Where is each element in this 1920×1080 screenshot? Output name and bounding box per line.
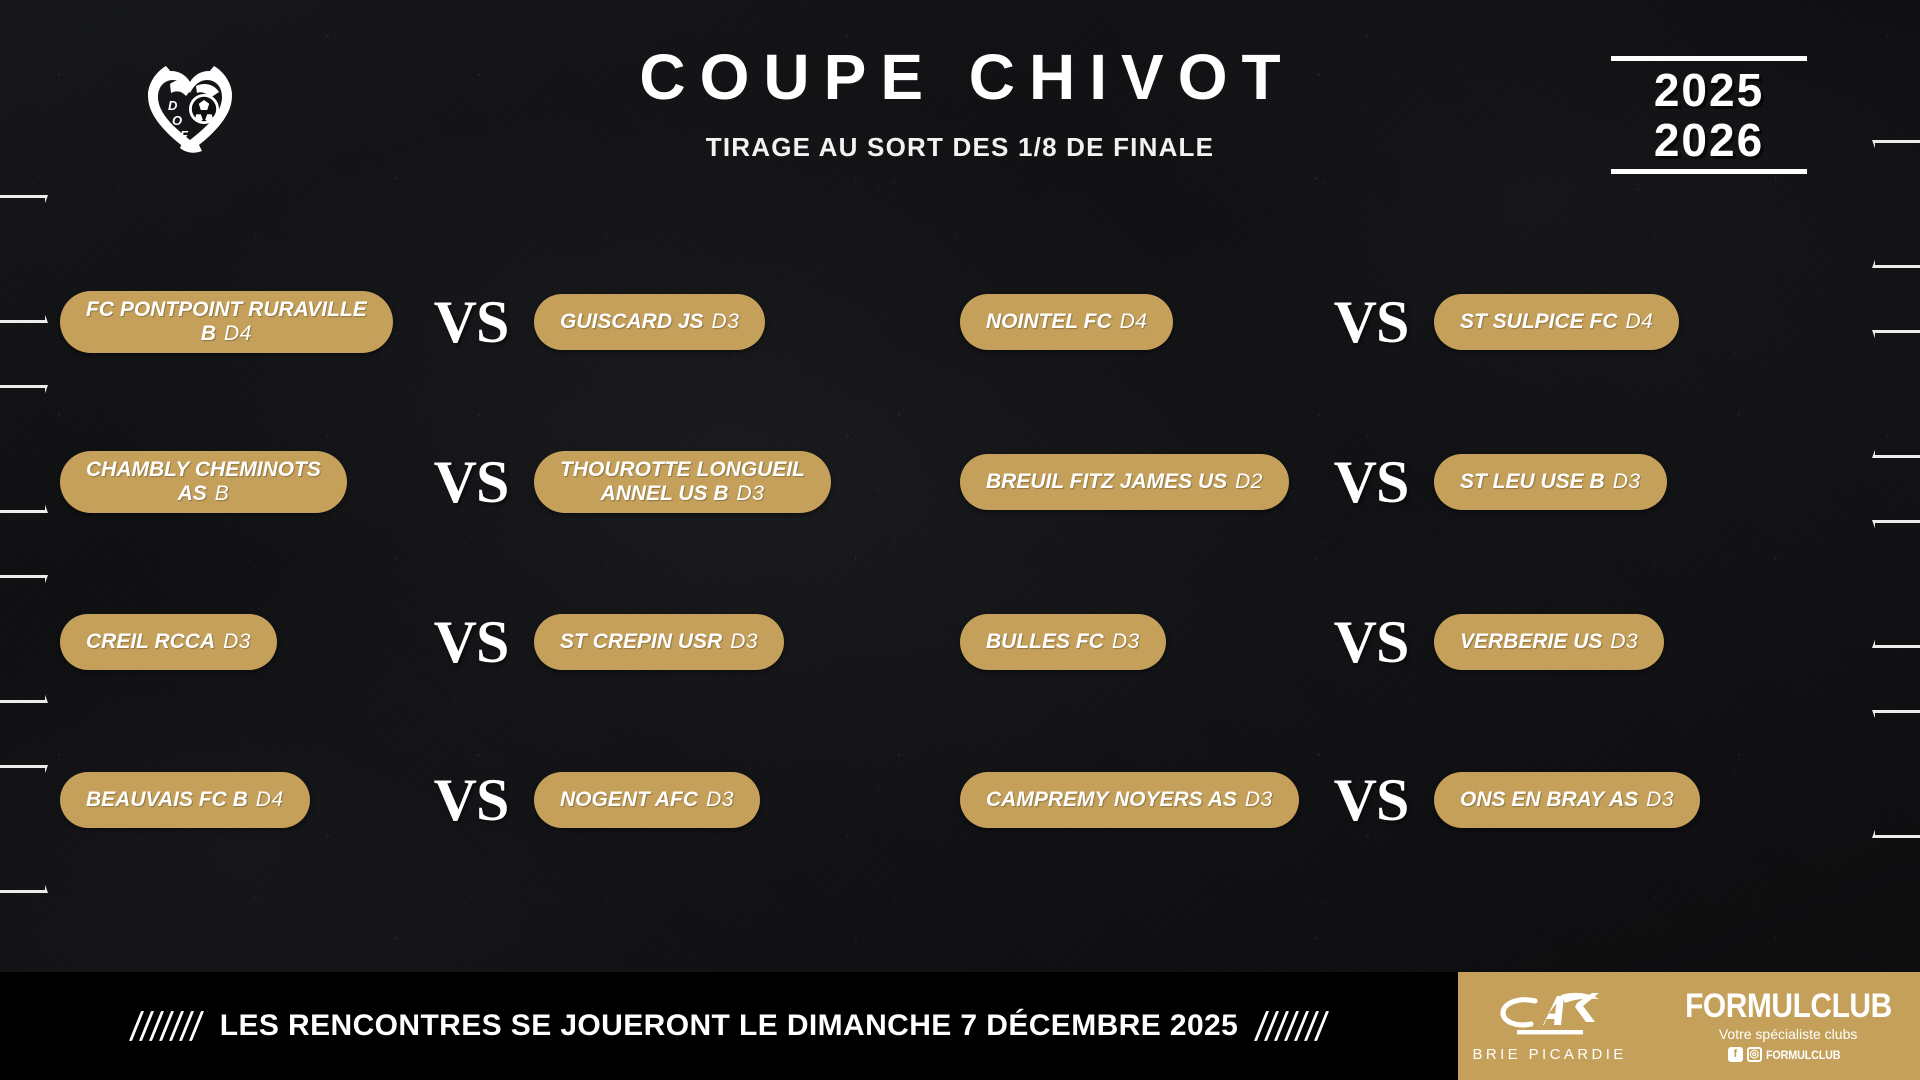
team-pill[interactable]: NOINTEL FCD4 (960, 294, 1173, 350)
season-rule-bottom (1611, 169, 1807, 174)
team-pill[interactable]: ONS EN BRAY ASD3 (1434, 772, 1700, 828)
team-pill[interactable]: CREIL RCCAD3 (60, 614, 277, 670)
team-division: D3 (1605, 470, 1641, 493)
team-division: D2 (1227, 470, 1263, 493)
team-name: ST CREPIN USR (560, 630, 722, 653)
slash-decoration-left (135, 1011, 198, 1041)
team-pill[interactable]: CAMPREMY NOYERS ASD3 (960, 772, 1299, 828)
team-pill[interactable]: ST LEU USE BD3 (1434, 454, 1667, 510)
match-left: CHAMBLY CHEMINOTSASBVSTHOUROTTE LONGUEIL… (60, 451, 960, 513)
formulclub-tagline: Votre spécialiste clubs (1671, 1026, 1906, 1042)
team-division: D3 (698, 788, 734, 811)
team-pill[interactable]: CHAMBLY CHEMINOTSASB (60, 451, 347, 513)
away-team-slot: GUISCARD JSD3 (534, 294, 956, 350)
match-left: BEAUVAIS FC BD4VSNOGENT AFCD3 (60, 770, 960, 830)
match-left: FC PONTPOINT RURAVILLEBD4VSGUISCARD JSD3 (60, 291, 960, 353)
team-name: BULLES FC (986, 630, 1104, 653)
poster-footer: LES RENCONTRES SE JOUERONT LE DIMANCHE 7… (0, 972, 1920, 1080)
vs-slot: VS (1308, 612, 1434, 672)
team-label: GUISCARD JSD3 (560, 310, 739, 334)
slash-decoration-right (1260, 1011, 1323, 1041)
away-team-slot: THOUROTTE LONGUEILANNEL US BD3 (534, 451, 956, 513)
match-right: BULLES FCD3VSVERBERIE USD3 (960, 612, 1860, 672)
instagram-icon[interactable]: ◎ (1747, 1047, 1762, 1062)
match-right: CAMPREMY NOYERS ASD3VSONS EN BRAY ASD3 (960, 770, 1860, 830)
poster-header: D O F COUPE CHIVOT TIRAGE AU SORT DES 1/… (0, 0, 1920, 210)
team-division: D4 (216, 322, 252, 345)
team-label: FC PONTPOINT RURAVILLEBD4 (86, 298, 367, 346)
bracket-row: BEAUVAIS FC BD4VSNOGENT AFCD3CAMPREMY NO… (60, 763, 1860, 837)
team-name: CAMPREMY NOYERS AS (986, 788, 1237, 811)
team-pill[interactable]: ST SULPICE FCD4 (1434, 294, 1679, 350)
formulclub-name: FORMULCLUB (1685, 990, 1892, 1023)
home-team-slot: CREIL RCCAD3 (60, 614, 408, 670)
team-label: ONS EN BRAY ASD3 (1460, 788, 1674, 812)
team-division: D3 (215, 630, 251, 653)
bracket-row: CREIL RCCAD3VSST CREPIN USRD3BULLES FCD3… (60, 605, 1860, 679)
team-name-line-2: BD4 (86, 322, 367, 346)
sponsor-bar: BRIE PICARDIE FORMULCLUB Votre spécialis… (1458, 972, 1920, 1080)
team-division: D3 (1638, 788, 1674, 811)
formulclub-social-row[interactable]: f ◎ FORMULCLUB (1671, 1047, 1906, 1062)
home-team-slot: BREUIL FITZ JAMES USD2 (960, 454, 1308, 510)
vs-slot: VS (408, 452, 534, 512)
team-label: BULLES FCD3 (986, 630, 1140, 654)
team-label: ST CREPIN USRD3 (560, 630, 758, 654)
team-division: D3 (729, 482, 765, 505)
away-team-slot: ONS EN BRAY ASD3 (1434, 772, 1860, 828)
vs-label: VS (434, 770, 509, 830)
team-label: CHAMBLY CHEMINOTSASB (86, 458, 321, 506)
away-team-slot: VERBERIE USD3 (1434, 614, 1860, 670)
season-year-end: 2026 (1611, 116, 1807, 166)
poster-canvas: D O F COUPE CHIVOT TIRAGE AU SORT DES 1/… (0, 0, 1920, 1080)
team-name: BREUIL FITZ JAMES US (986, 470, 1227, 493)
vs-label: VS (434, 292, 509, 352)
team-name-line-1: THOUROTTE LONGUEIL (560, 458, 805, 482)
team-pill[interactable]: VERBERIE USD3 (1434, 614, 1664, 670)
sponsor-credit-agricole[interactable]: BRIE PICARDIE (1472, 989, 1626, 1063)
team-name-line-2: ASB (86, 482, 321, 506)
team-label: CAMPREMY NOYERS ASD3 (986, 788, 1273, 812)
team-pill[interactable]: BREUIL FITZ JAMES USD2 (960, 454, 1289, 510)
credit-agricole-name: BRIE PICARDIE (1472, 1046, 1626, 1063)
away-team-slot: NOGENT AFCD3 (534, 772, 956, 828)
team-name: ONS EN BRAY AS (1460, 788, 1638, 811)
team-name: ST LEU USE B (1460, 470, 1605, 493)
away-team-slot: ST CREPIN USRD3 (534, 614, 956, 670)
match-right: NOINTEL FCD4VSST SULPICE FCD4 (960, 292, 1860, 352)
vs-slot: VS (408, 292, 534, 352)
home-team-slot: BULLES FCD3 (960, 614, 1308, 670)
team-division: B (207, 482, 230, 505)
home-team-slot: NOINTEL FCD4 (960, 294, 1308, 350)
vs-slot: VS (1308, 770, 1434, 830)
match-left: CREIL RCCAD3VSST CREPIN USRD3 (60, 612, 960, 672)
team-name: CREIL RCCA (86, 630, 215, 653)
team-pill[interactable]: THOUROTTE LONGUEILANNEL US BD3 (534, 451, 831, 513)
fixtures-bracket: FC PONTPOINT RURAVILLEBD4VSGUISCARD JSD3… (0, 285, 1920, 945)
sponsor-formulclub[interactable]: FORMULCLUB Votre spécialiste clubs f ◎ F… (1671, 990, 1906, 1063)
bracket-row: CHAMBLY CHEMINOTSASBVSTHOUROTTE LONGUEIL… (60, 445, 1860, 519)
team-name: NOGENT AFC (560, 788, 698, 811)
vs-slot: VS (408, 770, 534, 830)
footer-message-block: LES RENCONTRES SE JOUERONT LE DIMANCHE 7… (0, 972, 1458, 1080)
team-label: ST SULPICE FCD4 (1460, 310, 1653, 334)
team-pill[interactable]: NOGENT AFCD3 (534, 772, 760, 828)
match-right: BREUIL FITZ JAMES USD2VSST LEU USE BD3 (960, 452, 1860, 512)
formulclub-handle: FORMULCLUB (1766, 1048, 1840, 1062)
team-label: CREIL RCCAD3 (86, 630, 251, 654)
footer-message: LES RENCONTRES SE JOUERONT LE DIMANCHE 7… (220, 1009, 1238, 1043)
team-pill[interactable]: ST CREPIN USRD3 (534, 614, 784, 670)
team-pill[interactable]: BEAUVAIS FC BD4 (60, 772, 310, 828)
team-name-line-2: ANNEL US BD3 (560, 482, 805, 506)
home-team-slot: CAMPREMY NOYERS ASD3 (960, 772, 1308, 828)
team-pill[interactable]: GUISCARD JSD3 (534, 294, 765, 350)
credit-agricole-ca-icon (1491, 989, 1609, 1039)
vs-slot: VS (1308, 292, 1434, 352)
team-division: D3 (1602, 630, 1638, 653)
vs-slot: VS (1308, 452, 1434, 512)
vs-label: VS (434, 452, 509, 512)
team-label: BEAUVAIS FC BD4 (86, 788, 284, 812)
home-team-slot: BEAUVAIS FC BD4 (60, 772, 408, 828)
team-division: D3 (1104, 630, 1140, 653)
team-name: NOINTEL FC (986, 310, 1112, 333)
team-name: BEAUVAIS FC B (86, 788, 248, 811)
facebook-icon[interactable]: f (1728, 1047, 1743, 1062)
team-pill[interactable]: FC PONTPOINT RURAVILLEBD4 (60, 291, 393, 353)
team-division: D4 (248, 788, 284, 811)
team-name: VERBERIE US (1460, 630, 1602, 653)
season-year-start: 2025 (1611, 66, 1807, 116)
bracket-row: FC PONTPOINT RURAVILLEBD4VSGUISCARD JSD3… (60, 285, 1860, 359)
vs-label: VS (1334, 292, 1409, 352)
home-team-slot: FC PONTPOINT RURAVILLEBD4 (60, 291, 408, 353)
team-label: VERBERIE USD3 (1460, 630, 1638, 654)
team-division: D3 (722, 630, 758, 653)
team-name: GUISCARD JS (560, 310, 704, 333)
team-name-line-1: CHAMBLY CHEMINOTS (86, 458, 321, 482)
team-label: NOGENT AFCD3 (560, 788, 734, 812)
vs-label: VS (1334, 612, 1409, 672)
home-team-slot: CHAMBLY CHEMINOTSASB (60, 451, 408, 513)
vs-label: VS (1334, 770, 1409, 830)
season-badge: 2025 2026 (1611, 56, 1807, 174)
team-name: ST SULPICE FC (1460, 310, 1618, 333)
team-name-line-1: FC PONTPOINT RURAVILLE (86, 298, 367, 322)
vs-label: VS (1334, 452, 1409, 512)
away-team-slot: ST LEU USE BD3 (1434, 454, 1860, 510)
away-team-slot: ST SULPICE FCD4 (1434, 294, 1860, 350)
team-division: D4 (1618, 310, 1654, 333)
team-label: BREUIL FITZ JAMES USD2 (986, 470, 1263, 494)
team-division: D3 (1237, 788, 1273, 811)
team-label: THOUROTTE LONGUEILANNEL US BD3 (560, 458, 805, 506)
team-division: D3 (704, 310, 740, 333)
team-division: D4 (1112, 310, 1148, 333)
vs-label: VS (434, 612, 509, 672)
vs-slot: VS (408, 612, 534, 672)
team-label: ST LEU USE BD3 (1460, 470, 1641, 494)
team-pill[interactable]: BULLES FCD3 (960, 614, 1166, 670)
team-label: NOINTEL FCD4 (986, 310, 1147, 334)
